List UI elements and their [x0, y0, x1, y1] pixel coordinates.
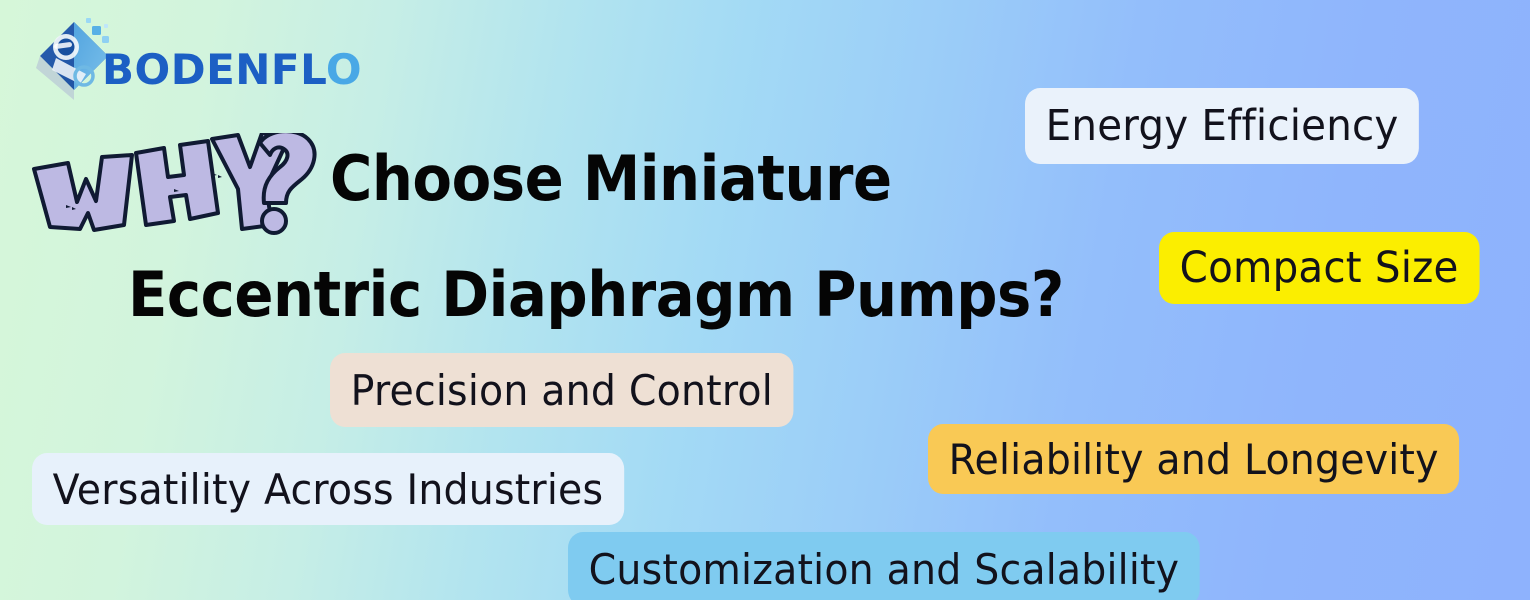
brand-wordmark-accent: O [326, 45, 362, 94]
benefit-pill-compact-size[interactable]: Compact Size [1159, 232, 1479, 304]
headline-line-1: Choose Miniature [330, 148, 892, 210]
benefit-pill-reliability-and-longevity[interactable]: Reliability and Longevity [928, 424, 1459, 494]
brand-wordmark-main: BODENFL [102, 45, 326, 94]
why-sticker-graphic [28, 133, 320, 243]
benefit-pill-energy-efficiency[interactable]: Energy Efficiency [1025, 88, 1419, 164]
benefit-pill-versatility-across-industries[interactable]: Versatility Across Industries [32, 453, 624, 525]
brand-wordmark: BODENFLO [102, 49, 362, 91]
promo-banner: BODENFLO [0, 0, 1530, 600]
brand-logo[interactable]: BODENFLO [34, 16, 384, 100]
benefit-pill-precision-and-control[interactable]: Precision and Control [330, 353, 794, 427]
headline-line-2: Eccentric Diaphragm Pumps? [128, 264, 1064, 326]
benefit-pill-customization-and-scalability[interactable]: Customization and Scalability [568, 532, 1200, 600]
